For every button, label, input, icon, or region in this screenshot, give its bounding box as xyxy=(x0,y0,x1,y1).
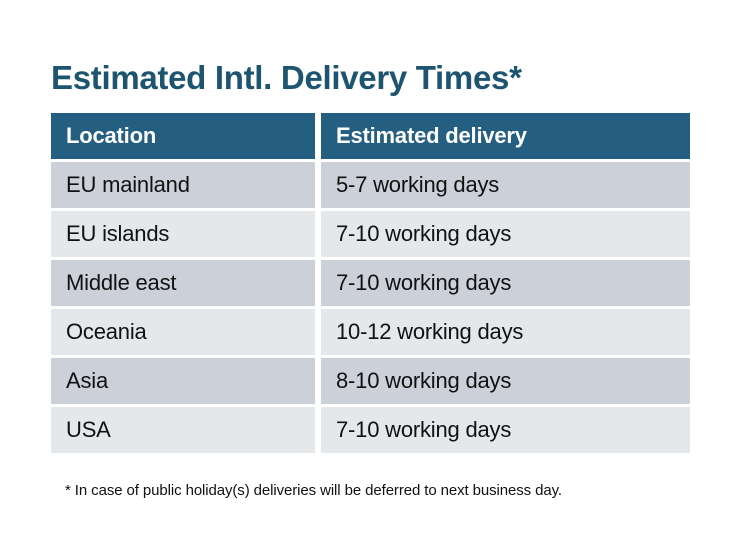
cell-location: EU islands xyxy=(51,211,315,257)
cell-location: USA xyxy=(51,407,315,453)
table-body: EU mainland 5-7 working days EU islands … xyxy=(51,159,690,453)
cell-estimated-delivery: 7-10 working days xyxy=(321,260,690,306)
table-row: Asia 8-10 working days xyxy=(51,358,690,404)
table-row: EU islands 7-10 working days xyxy=(51,211,690,257)
cell-location: Middle east xyxy=(51,260,315,306)
cell-location: Oceania xyxy=(51,309,315,355)
cell-estimated-delivery: 7-10 working days xyxy=(321,407,690,453)
cell-location: EU mainland xyxy=(51,162,315,208)
delivery-times-page: Estimated Intl. Delivery Times* Location… xyxy=(0,0,745,536)
cell-location: Asia xyxy=(51,358,315,404)
table-header-row: Location Estimated delivery xyxy=(51,113,690,159)
estimated-delivery-times-table: Location Estimated delivery EU mainland … xyxy=(51,113,690,453)
page-title: Estimated Intl. Delivery Times* xyxy=(51,58,522,98)
cell-estimated-delivery: 7-10 working days xyxy=(321,211,690,257)
table-header: Location Estimated delivery xyxy=(51,113,690,159)
cell-estimated-delivery: 5-7 working days xyxy=(321,162,690,208)
table-row: EU mainland 5-7 working days xyxy=(51,162,690,208)
table-row: USA 7-10 working days xyxy=(51,407,690,453)
table-row: Oceania 10-12 working days xyxy=(51,309,690,355)
footnote: * In case of public holiday(s) deliverie… xyxy=(65,481,562,501)
cell-estimated-delivery: 10-12 working days xyxy=(321,309,690,355)
table-row: Middle east 7-10 working days xyxy=(51,260,690,306)
column-header-location: Location xyxy=(51,113,315,159)
cell-estimated-delivery: 8-10 working days xyxy=(321,358,690,404)
column-header-estimated-delivery: Estimated delivery xyxy=(321,113,690,159)
